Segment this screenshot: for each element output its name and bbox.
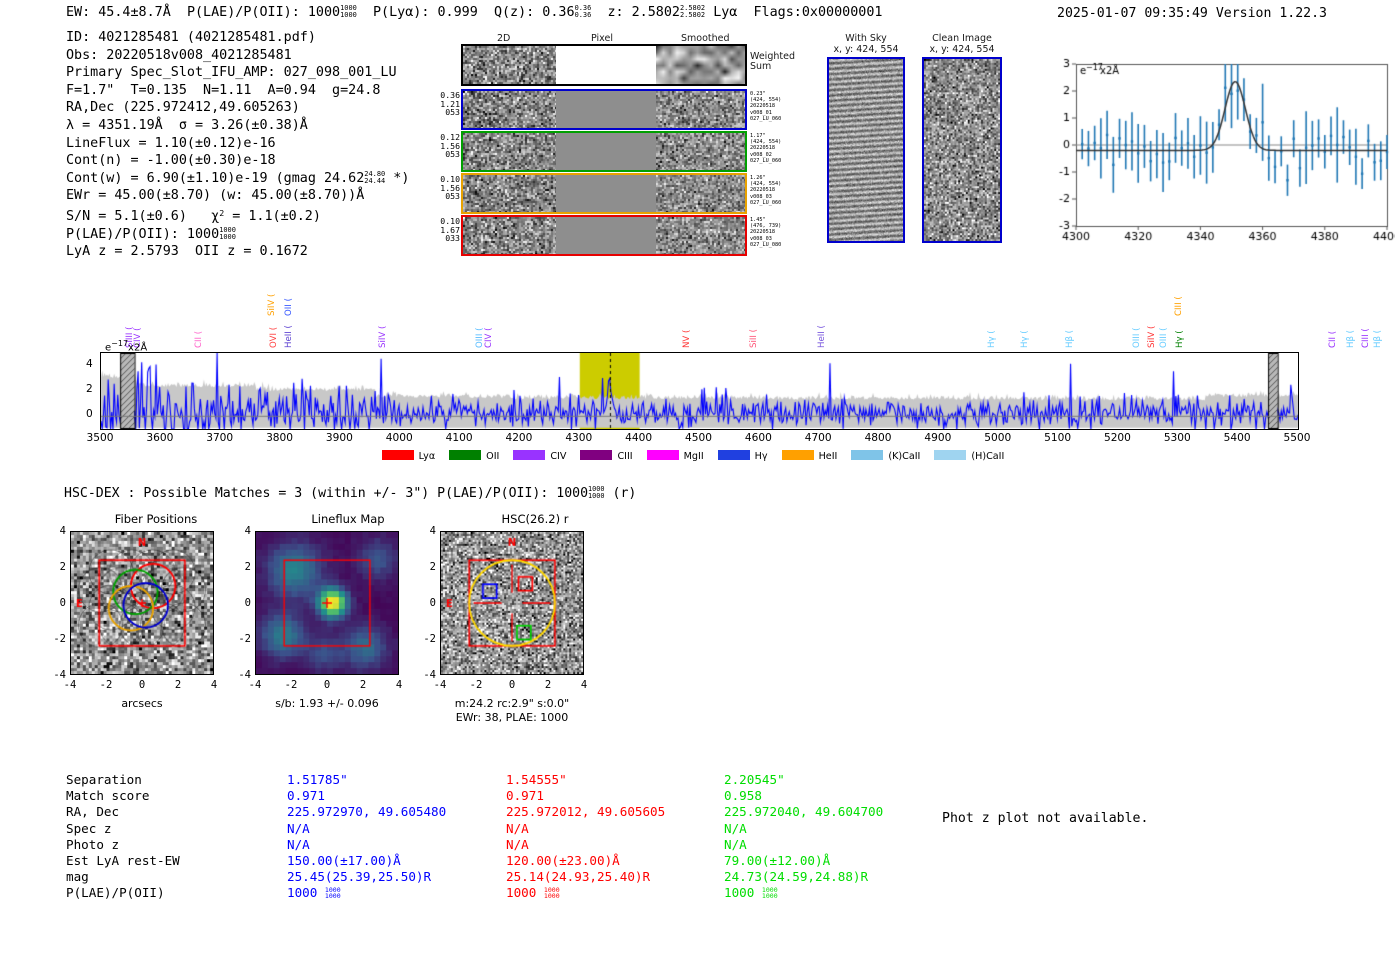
- weighted-sum-row: [461, 44, 747, 86]
- match-1-radec: 225.972970, 49.605480: [287, 804, 446, 820]
- legend-swatch: [851, 450, 883, 460]
- exposure-3-metadata: 1.26"(424, 554)20220518v008_03027_LU_060: [750, 175, 781, 206]
- exposure-1-pixelflat: [556, 91, 656, 128]
- header-plya: P(Lyα): 0.999: [373, 5, 478, 20]
- info-ewr: EWr = 45.00(±8.70) (w: 45.00(±8.70))Å: [66, 187, 409, 205]
- exposure-1-row: [461, 89, 747, 130]
- match-3-plae-fraction: 10001000: [762, 887, 778, 900]
- emission-line-label: Hγ (: [987, 330, 997, 348]
- match-1-mag: 25.45(25.39,25.50)R: [287, 869, 446, 885]
- match-column-2: 1.54555"0.971225.972012, 49.605605N/AN/A…: [506, 772, 665, 902]
- exposure-4-row: [461, 215, 747, 256]
- info-seeing: F=1.7" T=0.135 N=1.11 A=0.94 g=24.8: [66, 82, 409, 100]
- hsc-r-image: [440, 531, 584, 675]
- emission-line-label: OIII (: [1159, 328, 1169, 348]
- emission-line-label: OIII (: [1132, 328, 1142, 348]
- exposure-3-row: [461, 173, 747, 214]
- photz-note: Phot z plot not available.: [942, 811, 1148, 826]
- legend-label: (K)CaII: [888, 451, 920, 462]
- row-label-spec-z: Spec z: [66, 821, 180, 837]
- match-table-labels: Separation Match score RA, Dec Spec z Ph…: [66, 772, 180, 902]
- spectrum-xtick: 5300: [1158, 432, 1196, 444]
- fiber-positions-image: [70, 531, 214, 675]
- cutout-xtick: 2: [538, 679, 558, 691]
- clean-image-title: Clean Image x, y: 424, 554: [922, 33, 1002, 55]
- spectrum-ytick: 0: [86, 408, 93, 420]
- exposure-3-2dspec: [463, 175, 556, 212]
- match-2-separation: 1.54555": [506, 772, 665, 788]
- cutout-xtick: -2: [281, 679, 301, 691]
- fiber-positions-title: Fiber Positions: [96, 512, 216, 526]
- info-id: ID: 4021285481 (4021285481.pdf): [66, 29, 409, 47]
- cutout-ytick: 4: [235, 525, 251, 537]
- spectrum-ytick: 4: [86, 358, 93, 370]
- cutout-xtick: 0: [502, 679, 522, 691]
- emission-line-label: SiIV (: [267, 294, 277, 316]
- cutout-ytick: 0: [235, 597, 251, 609]
- with-sky-title: With Sky x, y: 424, 554: [829, 33, 903, 55]
- info-obs: Obs: 20220518v008_4021285481: [66, 47, 409, 65]
- match-1-photo-z: N/A: [287, 837, 446, 853]
- info-continuum-narrow: Cont(n) = -1.00(±0.30)e-18: [66, 152, 409, 170]
- hscdex-heading: HSC-DEX : Possible Matches = 3 (within +…: [64, 486, 636, 501]
- legend-label: CIV: [550, 451, 566, 462]
- spectrum-axes: [100, 352, 1299, 430]
- exposure-4-values: 0.101.67033: [438, 217, 460, 243]
- cutout-xtick: -4: [245, 679, 265, 691]
- match-2-mag: 25.14(24.93,25.40)R: [506, 869, 665, 885]
- match-3-plae: 1000 10001000: [724, 885, 883, 901]
- match-1-est-ew: 150.00(±17.00)Å: [287, 853, 446, 869]
- legend-swatch: [382, 450, 414, 460]
- spectrum-xtick: 4700: [799, 432, 837, 444]
- emission-line-label: SiII (: [749, 329, 759, 348]
- row-label-photo-z: Photo z: [66, 837, 180, 853]
- cutout-ytick: -2: [50, 633, 66, 645]
- exposure-2-values: 0.121.56053: [438, 133, 460, 159]
- header-z-fraction: 2.58022.5802: [680, 5, 705, 19]
- emission-line-label: OVI (: [269, 327, 279, 348]
- weighted-sum-2dspec-image: [463, 46, 556, 84]
- match-2-plae: 1000 10001000: [506, 885, 665, 901]
- emission-line-label: HeII (: [284, 325, 294, 348]
- spectrum-xtick: 5100: [1039, 432, 1077, 444]
- emission-line-label: Hβ (: [1373, 330, 1383, 348]
- match-1-match-score: 0.971: [287, 788, 446, 804]
- legend-label: MgII: [684, 451, 704, 462]
- header-qz-fraction: 0.360.36: [575, 5, 592, 19]
- spectrum-xtick: 5200: [1098, 432, 1136, 444]
- exposure-3-smoothed: [656, 175, 745, 212]
- summary-header-line: EW: 45.4±8.7Å P(LAE)/P(OII): 10001000100…: [66, 5, 883, 20]
- header-plae-label: P(LAE)/P(OII): 1000: [187, 5, 340, 20]
- legend-swatch: [449, 450, 481, 460]
- header-z-type: Lyα: [713, 5, 737, 20]
- header-datetime: 2025-01-07 09:35:49: [1057, 6, 1208, 21]
- spectrum-xtick: 3800: [261, 432, 299, 444]
- cutout-xtick: -4: [430, 679, 450, 691]
- legend-swatch: [718, 450, 750, 460]
- emission-line-label: OII (: [284, 298, 294, 316]
- spectrum-xtick: 4900: [919, 432, 957, 444]
- exposure-3-pixelflat: [556, 175, 656, 212]
- spectrum-xtick: 5400: [1218, 432, 1256, 444]
- cutout-xtick: 2: [353, 679, 373, 691]
- spectrum-xtick: 4000: [380, 432, 418, 444]
- header-plae-fraction: 10001000: [340, 5, 357, 19]
- spectrum-xtick: 4200: [500, 432, 538, 444]
- exposure-2-2dspec: [463, 133, 556, 170]
- cutout-ytick: 4: [50, 525, 66, 537]
- match-2-radec: 225.972012, 49.605605: [506, 804, 665, 820]
- exposure-3-values: 0.101.56053: [438, 175, 460, 201]
- header-ew: EW: 45.4±8.7Å: [66, 5, 171, 20]
- emission-line-label: Hβ (: [1346, 330, 1356, 348]
- legend-swatch: [782, 450, 814, 460]
- exposure-4-metadata: 1.45"(476, 739)20220518v008_03027_LU_080: [750, 217, 781, 248]
- info-gmag-fraction: 24.8024.44: [364, 171, 385, 185]
- header-version: Version 1.22.3: [1216, 6, 1327, 21]
- match-column-1: 1.51785"0.971225.972970, 49.605480N/AN/A…: [287, 772, 446, 902]
- exposure-1-values: 0.361.21053: [438, 91, 460, 117]
- legend-label: CIII: [617, 451, 632, 462]
- spectrum-ytick: 2: [86, 383, 93, 395]
- cutout-ytick: 2: [235, 561, 251, 573]
- cutout-ytick: 0: [420, 597, 436, 609]
- match-2-spec-z: N/A: [506, 821, 665, 837]
- legend-label: Hγ: [755, 451, 768, 462]
- match-1-plae: 1000 10001000: [287, 885, 446, 901]
- cutout-xtick: 4: [574, 679, 594, 691]
- exposure-1-2dspec: [463, 91, 556, 128]
- lineflux-map-image: [255, 531, 399, 675]
- cutout-ytick: 4: [420, 525, 436, 537]
- emission-line-label: SiIV (: [1147, 326, 1157, 348]
- cutout-xtick: -4: [60, 679, 80, 691]
- exposure-2-smoothed: [656, 133, 745, 170]
- row-label-radec: RA, Dec: [66, 804, 180, 820]
- info-spec-slot: Primary Spec_Slot_IFU_AMP: 027_098_001_L…: [66, 64, 409, 82]
- info-wavelength: λ = 4351.19Å σ = 3.26(±0.38)Å: [66, 117, 409, 135]
- info-redshifts: LyA z = 2.5793 OII z = 0.1672: [66, 243, 409, 261]
- spectrum-xtick: 4600: [739, 432, 777, 444]
- info-lineflux: LineFlux = 1.10(±0.12)e-16: [66, 135, 409, 153]
- cutout-xtick: -2: [96, 679, 116, 691]
- emission-line-label: CIII (: [1361, 328, 1371, 348]
- cutout-ytick: -2: [420, 633, 436, 645]
- match-2-match-score: 0.971: [506, 788, 665, 804]
- legend-swatch: [934, 450, 966, 460]
- weighted-sum-pixelflat-image: [556, 46, 656, 84]
- spectrum-xtick: 4400: [620, 432, 658, 444]
- cutout-xtick: -2: [466, 679, 486, 691]
- exposure-4-2dspec: [463, 217, 556, 254]
- match-3-est-ew: 79.00(±12.00)Å: [724, 853, 883, 869]
- match-column-3: 2.20545"0.958225.972040, 49.604700N/AN/A…: [724, 772, 883, 902]
- info-plae-fraction: 10001000: [219, 227, 236, 241]
- spectrum-xtick: 3600: [141, 432, 179, 444]
- with-sky-image: [827, 57, 905, 243]
- line-profile-plot: [1040, 52, 1395, 252]
- match-2-photo-z: N/A: [506, 837, 665, 853]
- row-label-mag: mag: [66, 869, 180, 885]
- info-continuum-wide: Cont(w) = 6.90(±1.10)e-19 (gmag 24.6224.…: [66, 170, 409, 188]
- info-snr-chi2: S/N = 5.1(±0.6) χ2 = 1.1(±0.2): [66, 205, 409, 226]
- match-1-separation: 1.51785": [287, 772, 446, 788]
- legend-label: OII: [486, 451, 499, 462]
- cutout-ytick: 2: [50, 561, 66, 573]
- emission-line-label: CIII (: [1174, 296, 1184, 316]
- cutout-ytick: 2: [420, 561, 436, 573]
- match-3-radec: 225.972040, 49.604700: [724, 804, 883, 820]
- info-radec: RA,Dec (225.972412,49.605263): [66, 99, 409, 117]
- spectrum-xtick: 3700: [201, 432, 239, 444]
- info-plae: P(LAE)/P(OII): 100010001000: [66, 226, 409, 244]
- spectrum-xtick: 4300: [560, 432, 598, 444]
- emission-line-label: HeII (: [817, 325, 827, 348]
- exposure-2-pixelflat: [556, 133, 656, 170]
- emission-line-label: SiIV (: [378, 326, 388, 348]
- cutout-ytick: -2: [235, 633, 251, 645]
- match-2-est-ew: 120.00(±23.00)Å: [506, 853, 665, 869]
- clean-image: [922, 57, 1002, 243]
- exposure-2-metadata: 1.17"(424, 554)20220518v008_02027_LU_060: [750, 133, 781, 164]
- row-label-separation: Separation: [66, 772, 180, 788]
- legend-label: (H)CaII: [971, 451, 1004, 462]
- match-3-match-score: 0.958: [724, 788, 883, 804]
- spectrum-legend: LyαOIICIVCIIIMgIIHγHeII(K)CaII(H)CaII: [0, 444, 1400, 463]
- match-3-mag: 24.73(24.59,24.88)R: [724, 869, 883, 885]
- header-qz: Q(z): 0.36: [494, 5, 575, 20]
- lineflux-map-xlabel: s/b: 1.93 +/- 0.096: [249, 697, 405, 710]
- spectrum-xtick: 4800: [859, 432, 897, 444]
- exposure-2-row: [461, 131, 747, 172]
- cutout-ytick: 0: [50, 597, 66, 609]
- fiber-positions-xlabel: arcsecs: [70, 697, 214, 710]
- match-1-spec-z: N/A: [287, 821, 446, 837]
- header-timestamp-version: 2025-01-07 09:35:49 Version 1.22.3: [1057, 6, 1327, 21]
- exposure-4-pixelflat: [556, 217, 656, 254]
- row-label-plae: P(LAE)/P(OII): [66, 885, 180, 901]
- lineflux-map-title: Lineflux Map: [288, 512, 408, 526]
- emission-line-label: Hγ (: [1175, 330, 1185, 348]
- emission-line-label: CIV (: [484, 328, 494, 349]
- weighted-sum-smoothed-image: [656, 46, 745, 84]
- emission-line-label: NV (: [682, 330, 692, 348]
- cutout-xtick: 4: [204, 679, 224, 691]
- panel-title-smoothed: Smoothed: [681, 33, 730, 44]
- legend-swatch: [647, 450, 679, 460]
- panel-title-weighted-sum: WeightedSum: [750, 52, 795, 72]
- cutout-xtick: 0: [317, 679, 337, 691]
- header-z: z: 2.5802: [607, 5, 680, 20]
- match-2-plae-fraction: 10001000: [544, 887, 560, 900]
- legend-swatch: [580, 450, 612, 460]
- exposure-1-metadata: 0.23"(424, 554)20220518v008_01027_LU_060: [750, 91, 781, 122]
- match-1-plae-fraction: 10001000: [325, 887, 341, 900]
- hsc-r-title: HSC(26.2) r: [475, 512, 595, 526]
- emission-line-label: Hβ (: [1065, 330, 1075, 348]
- exposure-1-smoothed: [656, 91, 745, 128]
- legend-label: Lyα: [419, 451, 435, 462]
- hsc-r-xlabel2: EWr: 38, PLAE: 1000: [432, 711, 592, 724]
- spectrum-xtick: 4100: [440, 432, 478, 444]
- spectrum-xtick: 3900: [320, 432, 358, 444]
- cutout-xtick: 4: [389, 679, 409, 691]
- row-label-match-score: Match score: [66, 788, 180, 804]
- hscdex-plae-fraction: 10001000: [588, 486, 605, 500]
- cutout-xtick: 0: [132, 679, 152, 691]
- match-3-spec-z: N/A: [724, 821, 883, 837]
- emission-line-label: CII (: [1328, 331, 1338, 348]
- spectrum-xtick: 3500: [81, 432, 119, 444]
- spectrum-xtick: 5000: [979, 432, 1017, 444]
- match-3-separation: 2.20545": [724, 772, 883, 788]
- exposure-4-smoothed: [656, 217, 745, 254]
- emission-line-label: CII (: [194, 331, 204, 348]
- spectrum-xtick: 5500: [1278, 432, 1316, 444]
- row-label-est-ew: Est LyA rest-EW: [66, 853, 180, 869]
- header-flags: Flags:0x00000001: [754, 5, 883, 20]
- match-3-photo-z: N/A: [724, 837, 883, 853]
- cutout-xtick: 2: [168, 679, 188, 691]
- legend-swatch: [513, 450, 545, 460]
- emission-line-label: Hγ (: [1020, 330, 1030, 348]
- source-info-block: ID: 4021285481 (4021285481.pdf) Obs: 202…: [66, 29, 409, 261]
- spectrum-xtick: 4500: [680, 432, 718, 444]
- legend-label: HeII: [819, 451, 838, 462]
- hsc-r-xlabel: m:24.2 rc:2.9" s:0.0": [432, 697, 592, 710]
